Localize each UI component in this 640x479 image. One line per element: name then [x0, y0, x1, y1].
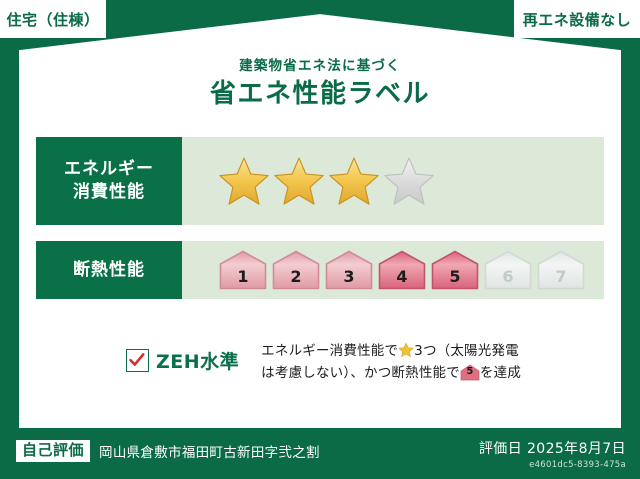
footer-left-group: 自己評価 岡山県倉敷市福田町古新田字弐之割 — [16, 440, 320, 462]
insulation-step-number: 7 — [536, 267, 586, 286]
footer: 自己評価 岡山県倉敷市福田町古新田字弐之割 評価日 2025年8月7日 e460… — [0, 428, 640, 479]
insulation-performance-value: 1234567 — [182, 241, 604, 299]
self-evaluation-badge: 自己評価 — [16, 440, 90, 462]
energy-performance-label: 住宅（住棟） 再エネ設備なし 建築物省エネ法に基づく 省エネ性能ラベル エネルギ… — [0, 0, 640, 479]
page-title: 建築物省エネ法に基づく 省エネ性能ラベル — [0, 58, 640, 110]
insulation-performance-label-box: 断熱性能 — [36, 241, 182, 299]
star-rating — [218, 156, 435, 206]
insulation-step-number: 1 — [218, 267, 268, 286]
tab-building-type-label: 住宅（住棟） — [6, 9, 99, 30]
row-insulation-performance: 断熱性能 1234567 — [36, 241, 604, 299]
insulation-step-number: 3 — [324, 267, 374, 286]
tab-renewable-equipment-label: 再エネ設備なし — [523, 9, 632, 30]
energy-performance-value — [182, 137, 604, 225]
star-filled-icon — [218, 156, 270, 206]
zeh-checkbox[interactable] — [126, 349, 149, 372]
zeh-desc-line1-prefix: エネルギー消費性能で — [261, 343, 398, 359]
insulation-step: 7 — [536, 249, 586, 291]
insulation-step-number: 2 — [271, 267, 321, 286]
tab-building-type[interactable]: 住宅（住棟） — [0, 0, 106, 38]
star-filled-icon — [328, 156, 380, 206]
zeh-desc-line2-prefix: は考慮しない）、かつ断熱性能で — [261, 365, 460, 381]
insulation-step: 4 — [377, 249, 427, 291]
zeh-desc-line2-suffix: を達成 — [480, 365, 521, 381]
zeh-description: エネルギー消費性能で3つ（太陽光発電 は考慮しない）、かつ断熱性能で5を達成 — [261, 341, 521, 385]
insulation-step-number: 5 — [430, 267, 480, 286]
evaluation-date: 評価日 2025年8月7日 — [479, 438, 626, 458]
energy-performance-label-line2: 消費性能 — [73, 181, 145, 204]
zeh-standard-name: ZEH水準 — [156, 347, 239, 374]
row-energy-performance: エネルギー 消費性能 — [36, 137, 604, 225]
inline-house-number: 5 — [460, 364, 480, 380]
check-icon — [128, 351, 146, 369]
insulation-step: 3 — [324, 249, 374, 291]
star-empty-icon — [383, 156, 435, 206]
zeh-badge: ZEH水準 — [126, 347, 239, 374]
property-address: 岡山県倉敷市福田町古新田字弐之割 — [99, 441, 320, 461]
energy-performance-label-box: エネルギー 消費性能 — [36, 137, 182, 225]
insulation-step-number: 4 — [377, 267, 427, 286]
insulation-step: 5 — [430, 249, 480, 291]
inline-star-icon — [398, 342, 414, 358]
inline-house-icon: 5 — [460, 364, 480, 381]
title-subtitle: 建築物省エネ法に基づく — [0, 58, 640, 74]
insulation-performance-label-line1: 断熱性能 — [73, 259, 145, 282]
evaluation-id: e4601dc5-8393-475a — [479, 460, 626, 470]
tab-renewable-equipment[interactable]: 再エネ設備なし — [514, 0, 640, 38]
zeh-desc-line1-suffix: 3つ（太陽光発電 — [414, 343, 519, 359]
insulation-step: 6 — [483, 249, 533, 291]
star-filled-icon — [273, 156, 325, 206]
energy-performance-label-line1: エネルギー — [64, 158, 154, 181]
insulation-step-number: 6 — [483, 267, 533, 286]
title-main: 省エネ性能ラベル — [0, 79, 640, 110]
zeh-standard-row: ZEH水準 エネルギー消費性能で3つ（太陽光発電 は考慮しない）、かつ断熱性能で… — [126, 341, 521, 385]
house-rating-scale: 1234567 — [218, 249, 586, 291]
footer-right-group: 評価日 2025年8月7日 e4601dc5-8393-475a — [479, 438, 626, 470]
insulation-step: 2 — [271, 249, 321, 291]
insulation-step: 1 — [218, 249, 268, 291]
